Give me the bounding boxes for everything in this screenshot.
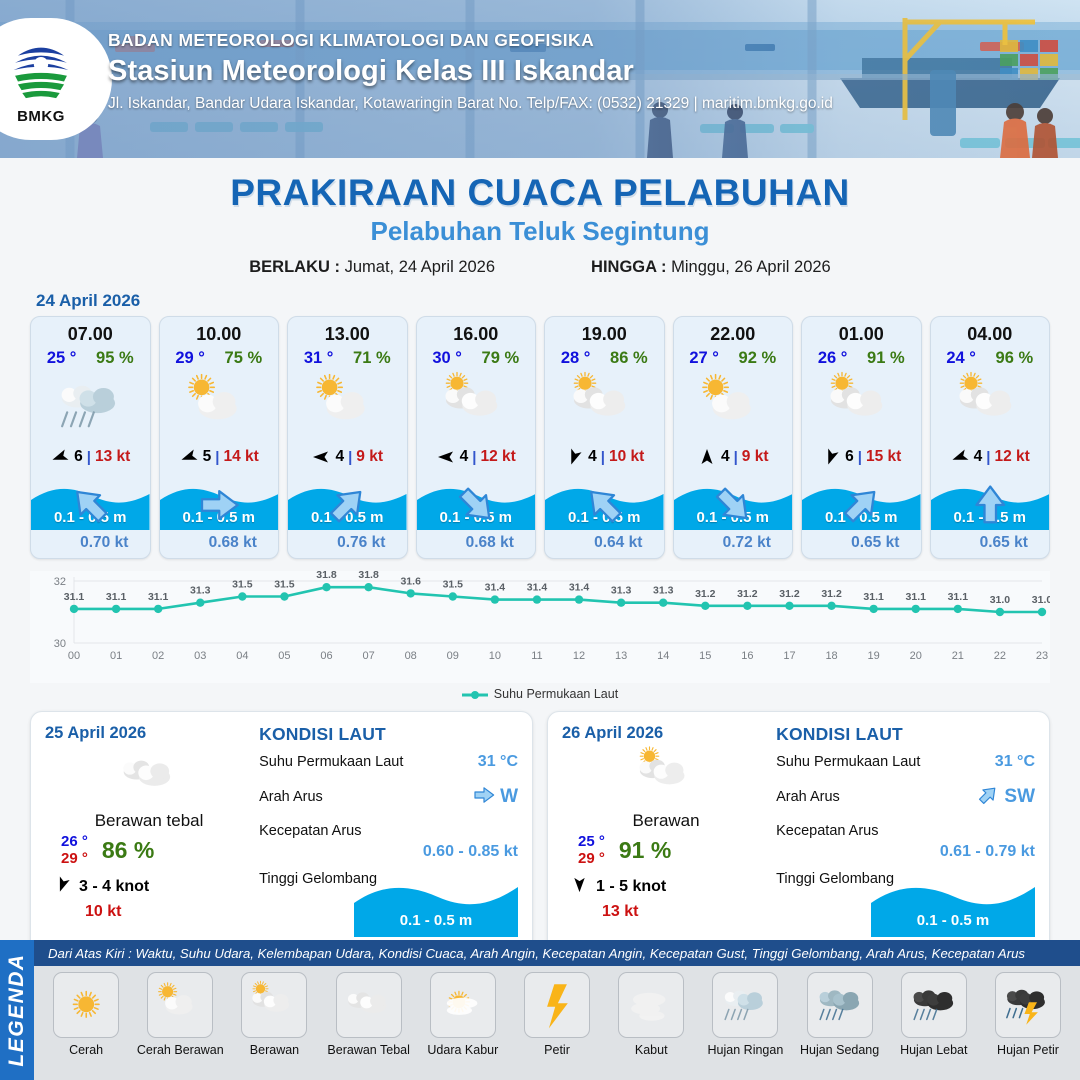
svg-text:31.2: 31.2 bbox=[737, 588, 758, 600]
day-temp-min: 25 ° bbox=[578, 833, 605, 850]
wave-height-block: 0.1 - 0.5 m 0.65 kt bbox=[931, 486, 1050, 558]
weather-icon-cerah-berawan bbox=[160, 370, 279, 442]
forecast-time: 07.00 bbox=[31, 317, 150, 345]
current-row: 0.72 kt bbox=[674, 530, 793, 556]
current-arrow-nw-icon bbox=[695, 532, 717, 554]
svg-text:31.3: 31.3 bbox=[190, 585, 211, 597]
day-wind-range: 1 - 5 knot bbox=[596, 878, 666, 896]
forecast-temp-hum-row: 29 ° 75 % bbox=[160, 349, 279, 368]
wind-separator: | bbox=[734, 449, 738, 466]
wind-speed-value: 4 bbox=[335, 448, 344, 466]
day-temp-hum: 26 ° 29 ° 86 % bbox=[45, 833, 253, 867]
current-row: 0.68 kt bbox=[160, 530, 279, 556]
day-forecast-panel[interactable]: 26 April 2026 Berawan 25 ° 29 ° 91 % bbox=[547, 711, 1050, 956]
forecast-time: 01.00 bbox=[802, 317, 921, 345]
bmkg-logo-mark bbox=[5, 33, 77, 107]
svg-text:31.1: 31.1 bbox=[64, 591, 85, 603]
svg-text:23: 23 bbox=[1036, 650, 1048, 662]
day-temp-range: 26 ° 29 ° bbox=[61, 833, 88, 867]
wind-arrow-ssw-icon bbox=[564, 447, 584, 467]
forecast-wind-row: 5 | 14 kt bbox=[160, 444, 279, 470]
svg-text:31.6: 31.6 bbox=[400, 575, 421, 587]
day-wave-value: 0.1 - 0.5 m bbox=[354, 912, 518, 929]
wave-height-block: 0.1 - 0.5 m 0.68 kt bbox=[160, 486, 279, 558]
forecast-temperature: 27 ° bbox=[689, 349, 719, 368]
wind-arrow-wsw-icon bbox=[950, 447, 970, 467]
legend-item-list: Cerah Cerah Berawan Berawan bbox=[34, 966, 1080, 1080]
forecast-wind-row: 4 | 9 kt bbox=[288, 444, 407, 470]
weather-icon-udara-kabur bbox=[430, 972, 496, 1038]
sea-conditions: KONDISI LAUT Suhu Permukaan Laut 31 °C A… bbox=[770, 724, 1035, 943]
svg-text:22: 22 bbox=[994, 650, 1006, 662]
forecast-humidity: 79 % bbox=[482, 349, 520, 368]
day-temp-max: 29 ° bbox=[61, 850, 88, 867]
forecast-wind-row: 6 | 13 kt bbox=[31, 444, 150, 470]
station-address: Jl. Iskandar, Bandar Udara Iskandar, Kot… bbox=[108, 95, 833, 113]
page-title: PRAKIRAAN CUACA PELABUHAN bbox=[0, 172, 1080, 214]
svg-text:10: 10 bbox=[489, 650, 501, 662]
svg-text:01: 01 bbox=[110, 650, 122, 662]
forecast-card[interactable]: 19.00 28 ° 86 % 4 | 10 kt 0.1 bbox=[544, 316, 665, 559]
day-humidity: 91 % bbox=[619, 837, 671, 864]
legend-item: Hujan Lebat bbox=[888, 972, 980, 1057]
weather-icon-hujan-petir bbox=[995, 972, 1061, 1038]
current-speed-value: 0.76 kt bbox=[337, 534, 385, 552]
forecast-wind-row: 6 | 15 kt bbox=[802, 444, 921, 470]
day-wave-graphic: 0.1 - 0.5 m bbox=[354, 881, 518, 937]
svg-text:31.1: 31.1 bbox=[863, 591, 884, 603]
forecast-card[interactable]: 04.00 24 ° 96 % 4 | 12 kt 0.1 bbox=[930, 316, 1051, 559]
weather-icon-berawan bbox=[241, 972, 307, 1038]
svg-text:30: 30 bbox=[54, 638, 66, 650]
sst-value: 31 °C bbox=[478, 753, 518, 771]
hingga-value: Minggu, 26 April 2026 bbox=[671, 258, 831, 276]
weather-icon-petir bbox=[524, 972, 590, 1038]
legend-item-label: Hujan Petir bbox=[997, 1043, 1059, 1057]
validity-row: BERLAKU : Jumat, 24 April 2026 HINGGA : … bbox=[0, 258, 1080, 277]
sea-conditions: KONDISI LAUT Suhu Permukaan Laut 31 °C A… bbox=[253, 724, 518, 943]
weather-icon-berawan bbox=[417, 370, 536, 442]
current-arrow-sw-icon bbox=[309, 532, 331, 554]
forecast-temp-hum-row: 27 ° 92 % bbox=[674, 349, 793, 368]
current-speed-value: 0.70 kt bbox=[80, 534, 128, 552]
legend-note: Dari Atas Kiri : Waktu, Suhu Udara, Kele… bbox=[34, 940, 1080, 966]
current-arrow-nw-icon bbox=[438, 532, 460, 554]
svg-text:00: 00 bbox=[68, 650, 80, 662]
current-arrow-se-icon bbox=[52, 532, 74, 554]
sst-chart-canvas: 3032000102030405060708091011121314151617… bbox=[30, 571, 1050, 683]
gust-speed-value: 12 kt bbox=[994, 448, 1029, 466]
legend-item: Cerah bbox=[40, 972, 132, 1057]
current-arrow-sw-icon bbox=[976, 783, 1000, 811]
forecast-temp-hum-row: 30 ° 79 % bbox=[417, 349, 536, 368]
weather-icon-cerah-berawan bbox=[147, 972, 213, 1038]
legend-item-label: Hujan Ringan bbox=[708, 1043, 784, 1057]
forecast-card[interactable]: 16.00 30 ° 79 % 4 | 12 kt 0.1 bbox=[416, 316, 537, 559]
legend-item: Kabut bbox=[605, 972, 697, 1057]
agency-name: BADAN METEOROLOGI KLIMATOLOGI DAN GEOFIS… bbox=[108, 30, 833, 51]
day-temp-max: 29 ° bbox=[578, 850, 605, 867]
svg-text:05: 05 bbox=[278, 650, 290, 662]
wind-separator: | bbox=[858, 449, 862, 466]
current-arrow-s-icon bbox=[952, 532, 974, 554]
current-arrow-w-icon bbox=[472, 783, 496, 811]
svg-text:14: 14 bbox=[657, 650, 669, 662]
gust-speed-value: 13 kt bbox=[95, 448, 130, 466]
svg-text:31.0: 31.0 bbox=[1032, 594, 1050, 606]
forecast-card[interactable]: 22.00 27 ° 92 % 4 | 9 kt 0.1 - 0.5 m bbox=[673, 316, 794, 559]
day-wave-graphic: 0.1 - 0.5 m bbox=[871, 881, 1035, 937]
day-gust-value: 13 kt bbox=[562, 903, 770, 921]
page-subtitle: Pelabuhan Teluk Segintung bbox=[0, 216, 1080, 247]
day-summary: 25 April 2026 Berawan tebal 26 ° 29 ° 86… bbox=[45, 724, 253, 943]
sst-label: Suhu Permukaan Laut bbox=[776, 754, 920, 770]
current-arrow-w-icon bbox=[181, 532, 203, 554]
daily-forecast-panels: 25 April 2026 Berawan tebal 26 ° 29 ° 86… bbox=[0, 701, 1080, 956]
legend-item-label: Petir bbox=[544, 1043, 570, 1057]
forecast-time: 13.00 bbox=[288, 317, 407, 345]
legend-item: Berawan bbox=[228, 972, 320, 1057]
legend-tab-label: LEGENDA bbox=[5, 953, 29, 1066]
wave-height-block: 0.1 - 0.5 m 0.68 kt bbox=[417, 486, 536, 558]
legend-item: Hujan Petir bbox=[982, 972, 1074, 1057]
forecast-date-label: 24 April 2026 bbox=[36, 291, 1080, 311]
svg-text:09: 09 bbox=[447, 650, 459, 662]
forecast-time: 10.00 bbox=[160, 317, 279, 345]
svg-text:21: 21 bbox=[952, 650, 964, 662]
wind-speed-value: 4 bbox=[460, 448, 469, 466]
current-speed-value: 0.68 kt bbox=[466, 534, 514, 552]
svg-text:31.2: 31.2 bbox=[695, 588, 716, 600]
svg-text:31.1: 31.1 bbox=[948, 591, 969, 603]
gust-speed-value: 10 kt bbox=[609, 448, 644, 466]
weather-icon-hujan-ringan bbox=[31, 370, 150, 442]
forecast-wind-row: 4 | 12 kt bbox=[931, 444, 1050, 470]
current-direction-row: Arah Arus SW bbox=[776, 783, 1035, 811]
day-gust-value: 10 kt bbox=[45, 903, 253, 921]
day-wind-row: 1 - 5 knot bbox=[562, 875, 770, 899]
svg-text:15: 15 bbox=[699, 650, 711, 662]
forecast-time: 04.00 bbox=[931, 317, 1050, 345]
forecast-wind-row: 4 | 12 kt bbox=[417, 444, 536, 470]
sea-conditions-title: KONDISI LAUT bbox=[259, 724, 518, 745]
forecast-card[interactable]: 07.00 25 ° 95 % 6 | 13 kt 0.1 - bbox=[30, 316, 151, 559]
wind-speed-value: 6 bbox=[74, 448, 83, 466]
legend-item-label: Cerah bbox=[69, 1043, 103, 1057]
header-text-block: BADAN METEOROLOGI KLIMATOLOGI DAN GEOFIS… bbox=[108, 30, 833, 113]
wind-arrow-wsw-icon bbox=[179, 447, 199, 467]
day-forecast-panel[interactable]: 25 April 2026 Berawan tebal 26 ° 29 ° 86… bbox=[30, 711, 533, 956]
wind-arrow-w-icon bbox=[436, 447, 456, 467]
wind-arrow-ssw-icon bbox=[821, 447, 841, 467]
current-speed-label: Kecepatan Arus bbox=[776, 823, 878, 839]
wind-arrow-ssw-icon bbox=[53, 875, 72, 899]
wind-arrow-w-icon bbox=[311, 447, 331, 467]
berlaku-group: BERLAKU : Jumat, 24 April 2026 bbox=[249, 258, 495, 277]
current-speed-value: 0.64 kt bbox=[594, 534, 642, 552]
svg-text:12: 12 bbox=[573, 650, 585, 662]
legend-item-label: Berawan bbox=[250, 1043, 299, 1057]
forecast-humidity: 96 % bbox=[996, 349, 1034, 368]
sst-value: 31 °C bbox=[995, 753, 1035, 771]
legend-item-label: Udara Kabur bbox=[427, 1043, 498, 1057]
current-speed-value: 0.68 kt bbox=[209, 534, 257, 552]
forecast-wind-row: 4 | 10 kt bbox=[545, 444, 664, 470]
svg-text:31.5: 31.5 bbox=[274, 579, 295, 591]
forecast-wind-row: 4 | 9 kt bbox=[674, 444, 793, 470]
day-wave-value: 0.1 - 0.5 m bbox=[871, 912, 1035, 929]
legend-item: Berawan Tebal bbox=[323, 972, 415, 1057]
legend-item-label: Berawan Tebal bbox=[327, 1043, 409, 1057]
day-date: 26 April 2026 bbox=[562, 724, 770, 743]
weather-icon-berawan-tebal bbox=[45, 745, 253, 807]
station-name: Stasiun Meteorologi Kelas III Iskandar bbox=[108, 55, 833, 88]
chart-legend: Suhu Permukaan Laut bbox=[0, 687, 1080, 701]
svg-text:31.2: 31.2 bbox=[821, 588, 842, 600]
legend-item: Hujan Sedang bbox=[794, 972, 886, 1057]
chart-legend-swatch bbox=[462, 689, 488, 699]
svg-text:32: 32 bbox=[54, 576, 66, 588]
day-temp-hum: 25 ° 29 ° 91 % bbox=[562, 833, 770, 867]
day-temp-range: 25 ° 29 ° bbox=[578, 833, 605, 867]
current-row: 0.68 kt bbox=[417, 530, 536, 556]
legend-item-label: Hujan Lebat bbox=[900, 1043, 967, 1057]
current-speed-value-row: 0.61 - 0.79 kt bbox=[776, 843, 1035, 861]
wind-arrow-n-icon bbox=[697, 447, 717, 467]
svg-text:31.0: 31.0 bbox=[990, 594, 1011, 606]
wind-speed-value: 4 bbox=[588, 448, 597, 466]
wave-height-block: 0.1 - 0.5 m 0.72 kt bbox=[674, 486, 793, 558]
forecast-time: 16.00 bbox=[417, 317, 536, 345]
berlaku-label: BERLAKU : bbox=[249, 258, 340, 276]
current-speed-value: 0.65 kt bbox=[851, 534, 899, 552]
legend-body: Dari Atas Kiri : Waktu, Suhu Udara, Kele… bbox=[34, 940, 1080, 1080]
current-speed-label: Kecepatan Arus bbox=[259, 823, 361, 839]
gust-speed-value: 15 kt bbox=[866, 448, 901, 466]
current-direction-value: SW bbox=[1004, 786, 1035, 808]
day-condition: Berawan tebal bbox=[45, 811, 253, 831]
forecast-temp-hum-row: 31 ° 71 % bbox=[288, 349, 407, 368]
current-speed-value: 0.60 - 0.85 kt bbox=[423, 843, 518, 861]
current-direction-label: Arah Arus bbox=[259, 789, 323, 805]
forecast-temperature: 26 ° bbox=[818, 349, 848, 368]
svg-text:03: 03 bbox=[194, 650, 206, 662]
svg-text:20: 20 bbox=[910, 650, 922, 662]
forecast-temperature: 25 ° bbox=[47, 349, 77, 368]
hingga-group: HINGGA : Minggu, 26 April 2026 bbox=[591, 258, 831, 277]
hingga-label: HINGGA : bbox=[591, 258, 666, 276]
current-row: 0.76 kt bbox=[288, 530, 407, 556]
svg-text:11: 11 bbox=[531, 650, 542, 662]
wind-speed-value: 4 bbox=[721, 448, 730, 466]
svg-text:18: 18 bbox=[825, 650, 837, 662]
sst-chart: 3032000102030405060708091011121314151617… bbox=[30, 571, 1050, 683]
wave-height-block: 0.1 - 0.5 m 0.70 kt bbox=[31, 486, 150, 558]
current-direction-group: SW bbox=[976, 783, 1035, 811]
forecast-temp-hum-row: 28 ° 86 % bbox=[545, 349, 664, 368]
wind-separator: | bbox=[215, 449, 219, 466]
forecast-card[interactable]: 10.00 29 ° 75 % 5 | 14 kt 0.1 - 0.5 m bbox=[159, 316, 280, 559]
berlaku-value: Jumat, 24 April 2026 bbox=[345, 258, 495, 276]
forecast-time: 22.00 bbox=[674, 317, 793, 345]
current-direction-label: Arah Arus bbox=[776, 789, 840, 805]
svg-text:31.8: 31.8 bbox=[316, 571, 337, 581]
svg-text:31.5: 31.5 bbox=[232, 579, 253, 591]
wave-height-block: 0.1 - 0.5 m 0.64 kt bbox=[545, 486, 664, 558]
forecast-temp-hum-row: 24 ° 96 % bbox=[931, 349, 1050, 368]
svg-text:02: 02 bbox=[152, 650, 164, 662]
current-row: 0.64 kt bbox=[545, 530, 664, 556]
forecast-card[interactable]: 13.00 31 ° 71 % 4 | 9 kt 0.1 - 0.5 m bbox=[287, 316, 408, 559]
current-direction-group: W bbox=[472, 783, 518, 811]
current-row: 0.65 kt bbox=[802, 530, 921, 556]
forecast-temp-hum-row: 25 ° 95 % bbox=[31, 349, 150, 368]
current-direction-row: Arah Arus W bbox=[259, 783, 518, 811]
svg-text:31.2: 31.2 bbox=[779, 588, 800, 600]
svg-text:13: 13 bbox=[615, 650, 627, 662]
svg-text:16: 16 bbox=[741, 650, 753, 662]
sst-label: Suhu Permukaan Laut bbox=[259, 754, 403, 770]
weather-icon-berawan bbox=[931, 370, 1050, 442]
forecast-humidity: 91 % bbox=[867, 349, 905, 368]
title-section: PRAKIRAAN CUACA PELABUHAN Pelabuhan Telu… bbox=[0, 158, 1080, 277]
svg-text:31.1: 31.1 bbox=[906, 591, 927, 603]
current-speed-value: 0.72 kt bbox=[723, 534, 771, 552]
forecast-temperature: 31 ° bbox=[304, 349, 334, 368]
sst-row: Suhu Permukaan Laut 31 °C bbox=[776, 753, 1035, 771]
wind-arrow-s-icon bbox=[570, 875, 589, 899]
forecast-temperature: 30 ° bbox=[432, 349, 462, 368]
weather-icon-cerah bbox=[53, 972, 119, 1038]
weather-icon-cerah-berawan bbox=[288, 370, 407, 442]
day-wind-range: 3 - 4 knot bbox=[79, 878, 149, 896]
svg-text:31.5: 31.5 bbox=[443, 579, 464, 591]
chart-legend-label: Suhu Permukaan Laut bbox=[494, 687, 618, 701]
svg-text:06: 06 bbox=[320, 650, 332, 662]
weather-icon-berawan bbox=[562, 745, 770, 807]
current-speed-value: 0.65 kt bbox=[980, 534, 1028, 552]
forecast-temperature: 28 ° bbox=[561, 349, 591, 368]
svg-text:04: 04 bbox=[236, 650, 248, 662]
weather-icon-hujan-lebat bbox=[901, 972, 967, 1038]
legend-item-label: Hujan Sedang bbox=[800, 1043, 879, 1057]
svg-text:17: 17 bbox=[783, 650, 795, 662]
current-arrow-se-icon bbox=[566, 532, 588, 554]
wind-speed-value: 4 bbox=[974, 448, 983, 466]
forecast-card-list: 07.00 25 ° 95 % 6 | 13 kt 0.1 - bbox=[0, 316, 1080, 559]
wind-arrow-wsw-icon bbox=[50, 447, 70, 467]
weather-icon-cerah-berawan bbox=[674, 370, 793, 442]
forecast-time: 19.00 bbox=[545, 317, 664, 345]
forecast-temperature: 29 ° bbox=[175, 349, 205, 368]
sst-row: Suhu Permukaan Laut 31 °C bbox=[259, 753, 518, 771]
gust-speed-value: 9 kt bbox=[742, 448, 769, 466]
forecast-humidity: 92 % bbox=[739, 349, 777, 368]
legend-item-label: Kabut bbox=[635, 1043, 668, 1057]
forecast-humidity: 95 % bbox=[96, 349, 134, 368]
day-summary: 26 April 2026 Berawan 25 ° 29 ° 91 % bbox=[562, 724, 770, 943]
weather-icon-hujan-sedang bbox=[807, 972, 873, 1038]
weather-icon-kabut bbox=[618, 972, 684, 1038]
weather-icon-berawan bbox=[802, 370, 921, 442]
wind-separator: | bbox=[986, 449, 990, 466]
forecast-card[interactable]: 01.00 26 ° 91 % 6 | 15 kt 0.1 bbox=[801, 316, 922, 559]
day-condition: Berawan bbox=[562, 811, 770, 831]
wind-separator: | bbox=[601, 449, 605, 466]
svg-text:31.1: 31.1 bbox=[148, 591, 169, 603]
gust-speed-value: 9 kt bbox=[356, 448, 383, 466]
current-arrow-sw-icon bbox=[823, 532, 845, 554]
forecast-humidity: 71 % bbox=[353, 349, 391, 368]
gust-speed-value: 12 kt bbox=[480, 448, 515, 466]
legend-section: LEGENDA Dari Atas Kiri : Waktu, Suhu Uda… bbox=[0, 940, 1080, 1080]
wind-separator: | bbox=[348, 449, 352, 466]
svg-text:31.4: 31.4 bbox=[485, 582, 506, 594]
day-wind-row: 3 - 4 knot bbox=[45, 875, 253, 899]
legend-item: Hujan Ringan bbox=[699, 972, 791, 1057]
forecast-humidity: 86 % bbox=[610, 349, 648, 368]
wind-separator: | bbox=[472, 449, 476, 466]
svg-text:31.4: 31.4 bbox=[569, 582, 590, 594]
weather-icon-hujan-ringan bbox=[712, 972, 778, 1038]
forecast-temp-hum-row: 26 ° 91 % bbox=[802, 349, 921, 368]
svg-text:07: 07 bbox=[362, 650, 374, 662]
current-speed-value-row: 0.60 - 0.85 kt bbox=[259, 843, 518, 861]
current-speed-value: 0.61 - 0.79 kt bbox=[940, 843, 1035, 861]
current-speed-label-row: Kecepatan Arus bbox=[259, 823, 518, 839]
svg-text:31.3: 31.3 bbox=[611, 585, 632, 597]
svg-text:31.1: 31.1 bbox=[106, 591, 127, 603]
sea-conditions-title: KONDISI LAUT bbox=[776, 724, 1035, 745]
wind-separator: | bbox=[87, 449, 91, 466]
gust-speed-value: 14 kt bbox=[223, 448, 258, 466]
forecast-temperature: 24 ° bbox=[946, 349, 976, 368]
svg-text:31.4: 31.4 bbox=[527, 582, 548, 594]
weather-icon-berawan bbox=[545, 370, 664, 442]
wind-speed-value: 5 bbox=[203, 448, 212, 466]
bmkg-logo-text: BMKG bbox=[17, 108, 65, 125]
current-speed-label-row: Kecepatan Arus bbox=[776, 823, 1035, 839]
legend-item: Cerah Berawan bbox=[134, 972, 226, 1057]
day-date: 25 April 2026 bbox=[45, 724, 253, 743]
wave-height-block: 0.1 - 0.5 m 0.65 kt bbox=[802, 486, 921, 558]
legend-item-label: Cerah Berawan bbox=[137, 1043, 224, 1057]
svg-text:31.8: 31.8 bbox=[358, 571, 379, 581]
legend-item: Petir bbox=[511, 972, 603, 1057]
svg-text:19: 19 bbox=[868, 650, 880, 662]
wave-height-block: 0.1 - 0.5 m 0.76 kt bbox=[288, 486, 407, 558]
svg-text:08: 08 bbox=[405, 650, 417, 662]
current-direction-value: W bbox=[500, 786, 518, 808]
wind-speed-value: 6 bbox=[845, 448, 854, 466]
legend-item: Udara Kabur bbox=[417, 972, 509, 1057]
legend-tab: LEGENDA bbox=[0, 940, 34, 1080]
day-temp-min: 26 ° bbox=[61, 833, 88, 850]
current-row: 0.70 kt bbox=[31, 530, 150, 556]
weather-icon-berawan-tebal bbox=[336, 972, 402, 1038]
page-header: BMKG BADAN METEOROLOGI KLIMATOLOGI DAN G… bbox=[0, 0, 1080, 158]
forecast-humidity: 75 % bbox=[225, 349, 263, 368]
svg-text:31.3: 31.3 bbox=[653, 585, 674, 597]
day-humidity: 86 % bbox=[102, 837, 154, 864]
current-row: 0.65 kt bbox=[931, 530, 1050, 556]
